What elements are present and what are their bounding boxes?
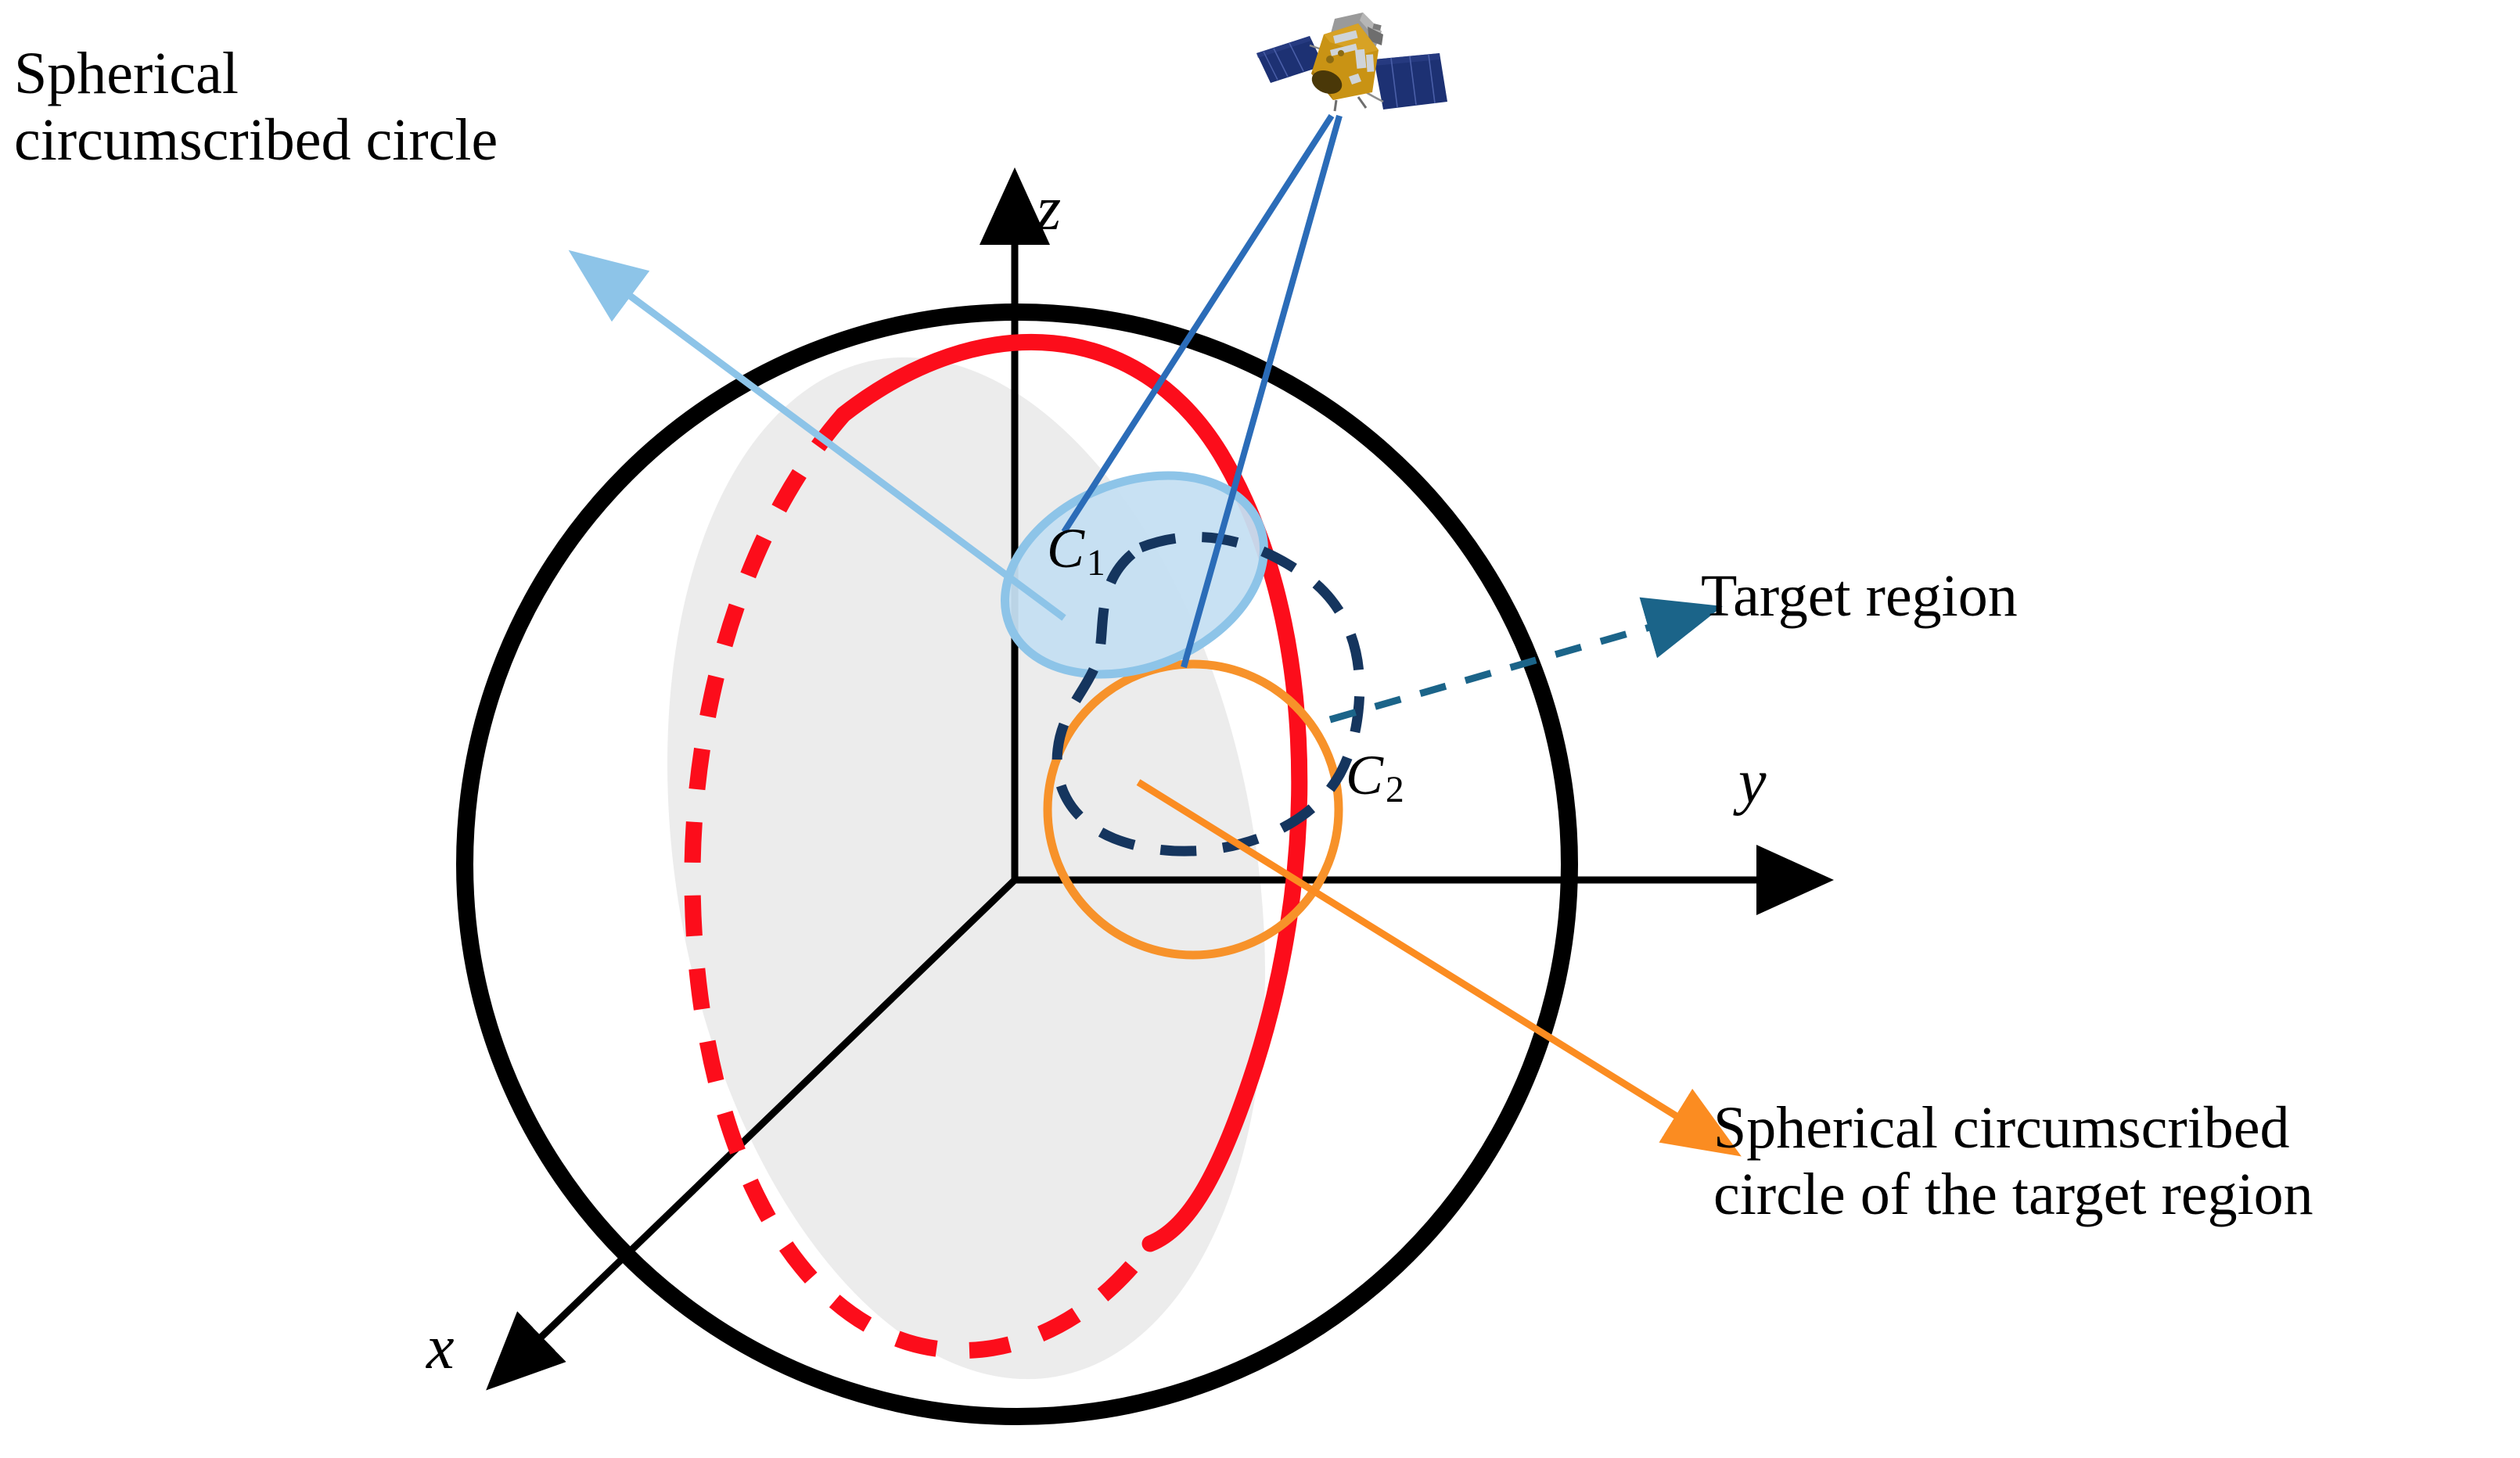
label-circle-c2: C2 [1346, 743, 1404, 811]
satellite-icon [1249, 5, 1460, 136]
axis-label-x: x [426, 1313, 455, 1384]
figure-canvas: Spherical circumscribed circle Target re… [0, 0, 2520, 1458]
axis-label-y: y [1738, 747, 1767, 818]
label-circle-c1-subscript: 1 [1084, 543, 1105, 584]
callout-arrow-target-region [1330, 618, 1682, 720]
satellite-body [1308, 23, 1379, 111]
satellite-solar-panel-right [1374, 53, 1447, 110]
label-spherical-circumscribed-circle: Spherical circumscribed circle [14, 41, 498, 174]
label-target-spherical-circumscribed-circle: Spherical circumscribed circle of the ta… [1713, 1095, 2313, 1228]
label-target-region: Target region [1701, 563, 2018, 630]
label-circle-c2-subscript: 2 [1383, 770, 1404, 810]
diagram-svg [0, 0, 2520, 1458]
label-circle-c1-letter: C [1047, 517, 1084, 580]
axis-label-z: z [1037, 174, 1061, 245]
label-circle-c2-letter: C [1346, 744, 1383, 806]
label-circle-c1: C1 [1047, 516, 1105, 584]
